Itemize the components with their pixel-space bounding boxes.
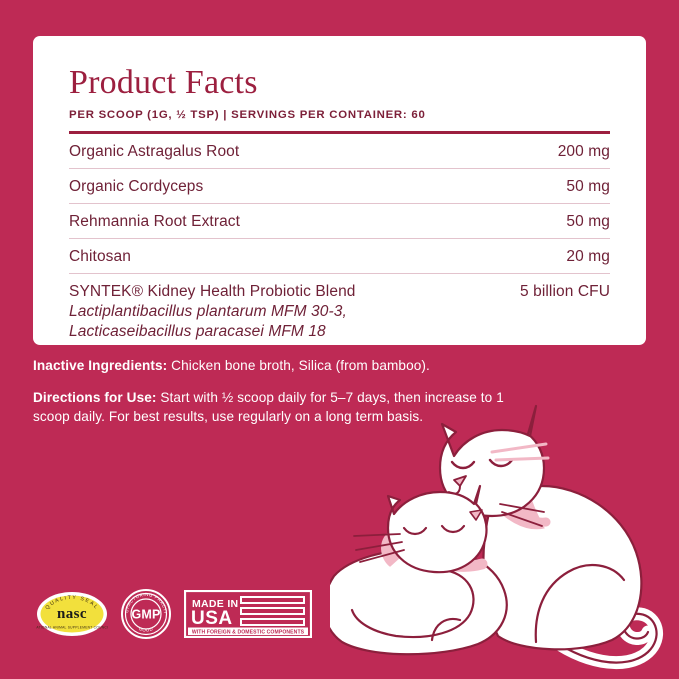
gmp-wordmark: GMP (131, 608, 160, 622)
serving-info: PER SCOOP (1G, ½ TSP) | SERVINGS PER CON… (69, 108, 610, 122)
ingredient-amount: 200 mg (558, 141, 610, 162)
directions-label: Directions for Use: (33, 390, 157, 405)
product-facts-card: Product Facts PER SCOOP (1G, ½ TSP) | SE… (33, 36, 646, 345)
page-title: Product Facts (69, 64, 610, 102)
inactive-ingredients-label: Inactive Ingredients: (33, 358, 167, 373)
ingredient-amount: 50 mg (566, 176, 610, 197)
supplementary-copy: Inactive Ingredients: Chicken bone broth… (33, 356, 513, 426)
table-row: Organic Cordyceps 50 mg (69, 169, 610, 204)
svg-text:GOOD: GOOD (138, 626, 154, 632)
inactive-ingredients-paragraph: Inactive Ingredients: Chicken bone broth… (33, 356, 513, 375)
product-facts-panel: Product Facts PER SCOOP (1G, ½ TSP) | SE… (0, 0, 679, 679)
two-cats-illustration (330, 400, 679, 679)
directions-paragraph: Directions for Use: Start with ½ scoop d… (33, 388, 513, 426)
table-row: Chitosan 20 mg (69, 239, 610, 274)
made-in-usa-icon: MADE IN USA WITH FOREIGN & DOMESTIC COMP… (184, 590, 312, 638)
gmp-arc-bottom-text: GOOD (138, 626, 154, 632)
blend-strain: Lactiplantibacillus plantarum MFM 30-3, (69, 302, 520, 322)
table-row: Organic Astragalus Root 200 mg (69, 134, 610, 169)
table-row-probiotic-blend: SYNTEK® Kidney Health Probiotic Blend La… (69, 274, 610, 348)
ingredient-name: Organic Cordyceps (69, 176, 203, 197)
ingredient-name: Organic Astragalus Root (69, 141, 239, 162)
ingredient-amount: 20 mg (566, 246, 610, 267)
nasc-footer-text: NATIONAL ANIMAL SUPPLEMENT COUNCIL (36, 626, 108, 630)
nasc-wordmark: nasc (57, 606, 87, 622)
blend-details: SYNTEK® Kidney Health Probiotic Blend La… (69, 281, 520, 342)
made-in-usa-line2: USA (191, 608, 233, 629)
table-row: Rehmannia Root Extract 50 mg (69, 204, 610, 239)
made-in-usa-footer-text: WITH FOREIGN & DOMESTIC COMPONENTS (192, 629, 305, 635)
blend-strain: Lacticaseibacillus paracasei MFM 18 (69, 322, 520, 342)
ingredient-amount: 50 mg (566, 211, 610, 232)
ingredient-name: Rehmannia Root Extract (69, 211, 240, 232)
inactive-ingredients-text: Chicken bone broth, Silica (from bamboo)… (167, 358, 430, 373)
certification-badges: QUALITY SEAL nasc NATIONAL ANIMAL SUPPLE… (36, 589, 312, 639)
ingredient-name: Chitosan (69, 246, 131, 267)
blend-amount: 5 billion CFU (520, 281, 610, 302)
nasc-quality-seal-icon: QUALITY SEAL nasc NATIONAL ANIMAL SUPPLE… (36, 589, 108, 639)
gmp-certification-icon: MANUFACTURING PRACTICES GOOD GMP (121, 589, 171, 639)
blend-name: SYNTEK® Kidney Health Probiotic Blend (69, 281, 520, 302)
